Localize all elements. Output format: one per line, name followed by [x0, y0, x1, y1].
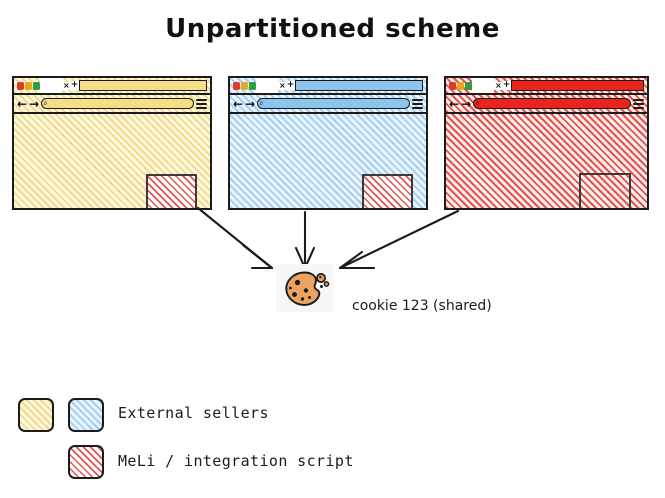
close-window-dot[interactable] — [233, 82, 240, 90]
forward-arrow-icon[interactable]: → — [29, 98, 39, 110]
tab-strip[interactable] — [511, 80, 644, 91]
integration-script-frame — [579, 173, 631, 208]
close-tab-icon[interactable]: × — [278, 82, 287, 90]
legend-label-meli-integration-script: MeLi / integration script — [118, 452, 354, 470]
window-controls[interactable] — [14, 82, 40, 90]
back-arrow-icon[interactable]: ← — [449, 98, 459, 110]
new-tab-icon[interactable]: + — [287, 81, 296, 90]
minimize-window-dot[interactable] — [457, 82, 464, 90]
tab-strip[interactable] — [79, 80, 207, 91]
active-tab[interactable] — [256, 78, 278, 93]
page-title: Unpartitioned scheme — [0, 14, 665, 44]
address-bar[interactable]: ⌕ — [257, 98, 410, 109]
browser-tabbar: × + — [446, 78, 647, 95]
cookie-label: cookie 123 (shared) — [352, 298, 492, 314]
window-controls[interactable] — [446, 82, 472, 90]
back-arrow-icon[interactable]: ← — [233, 98, 243, 110]
page-viewport — [230, 114, 426, 208]
address-bar[interactable]: ⌕ — [473, 98, 631, 109]
browser-window-external-seller-a[interactable]: × + ← → ⌕ — [12, 76, 212, 210]
browser-window-meli-site[interactable]: × + ← → ⌕ — [444, 76, 649, 210]
arrow-from-external-seller-b — [296, 212, 314, 268]
maximize-window-dot[interactable] — [465, 82, 472, 90]
close-tab-icon[interactable]: × — [62, 82, 71, 90]
maximize-window-dot[interactable] — [249, 82, 256, 90]
page-viewport — [14, 114, 210, 208]
maximize-window-dot[interactable] — [33, 82, 40, 90]
arrow-from-external-seller-a — [198, 208, 272, 268]
hamburger-menu-icon[interactable] — [196, 99, 207, 109]
new-tab-icon[interactable]: + — [71, 81, 80, 90]
browser-toolbar: ← → ⌕ — [14, 95, 210, 114]
close-window-dot[interactable] — [449, 82, 456, 90]
legend-swatch-red — [68, 445, 104, 479]
address-bar[interactable]: ⌕ — [41, 98, 194, 109]
cookie-node — [276, 264, 334, 312]
active-tab[interactable] — [472, 78, 494, 93]
browser-tabbar: × + — [14, 78, 210, 95]
browser-tabbar: × + — [230, 78, 426, 95]
legend-swatch-blue — [68, 398, 104, 432]
new-tab-icon[interactable]: + — [503, 81, 512, 90]
search-icon: ⌕ — [43, 99, 47, 107]
integration-script-frame — [146, 174, 197, 208]
forward-arrow-icon[interactable]: → — [461, 98, 471, 110]
browser-toolbar: ← → ⌕ — [446, 95, 647, 114]
hamburger-menu-icon[interactable] — [633, 99, 644, 109]
minimize-window-dot[interactable] — [25, 82, 32, 90]
active-tab[interactable] — [40, 78, 62, 93]
legend-swatch-yellow — [18, 398, 54, 432]
page-viewport — [446, 114, 647, 208]
hamburger-menu-icon[interactable] — [412, 99, 423, 109]
legend-label-external-sellers: External sellers — [118, 404, 269, 422]
browser-toolbar: ← → ⌕ — [230, 95, 426, 114]
browser-window-external-seller-b[interactable]: × + ← → ⌕ — [228, 76, 428, 210]
search-icon: ⌕ — [259, 99, 263, 107]
minimize-window-dot[interactable] — [241, 82, 248, 90]
integration-script-frame — [362, 174, 413, 208]
close-tab-icon[interactable]: × — [494, 82, 503, 90]
cookie-icon — [276, 264, 334, 312]
back-arrow-icon[interactable]: ← — [17, 98, 27, 110]
close-window-dot[interactable] — [17, 82, 24, 90]
tab-strip[interactable] — [295, 80, 423, 91]
window-controls[interactable] — [230, 82, 256, 90]
arrow-from-meli-site — [340, 211, 458, 268]
search-icon: ⌕ — [475, 99, 479, 107]
forward-arrow-icon[interactable]: → — [245, 98, 255, 110]
